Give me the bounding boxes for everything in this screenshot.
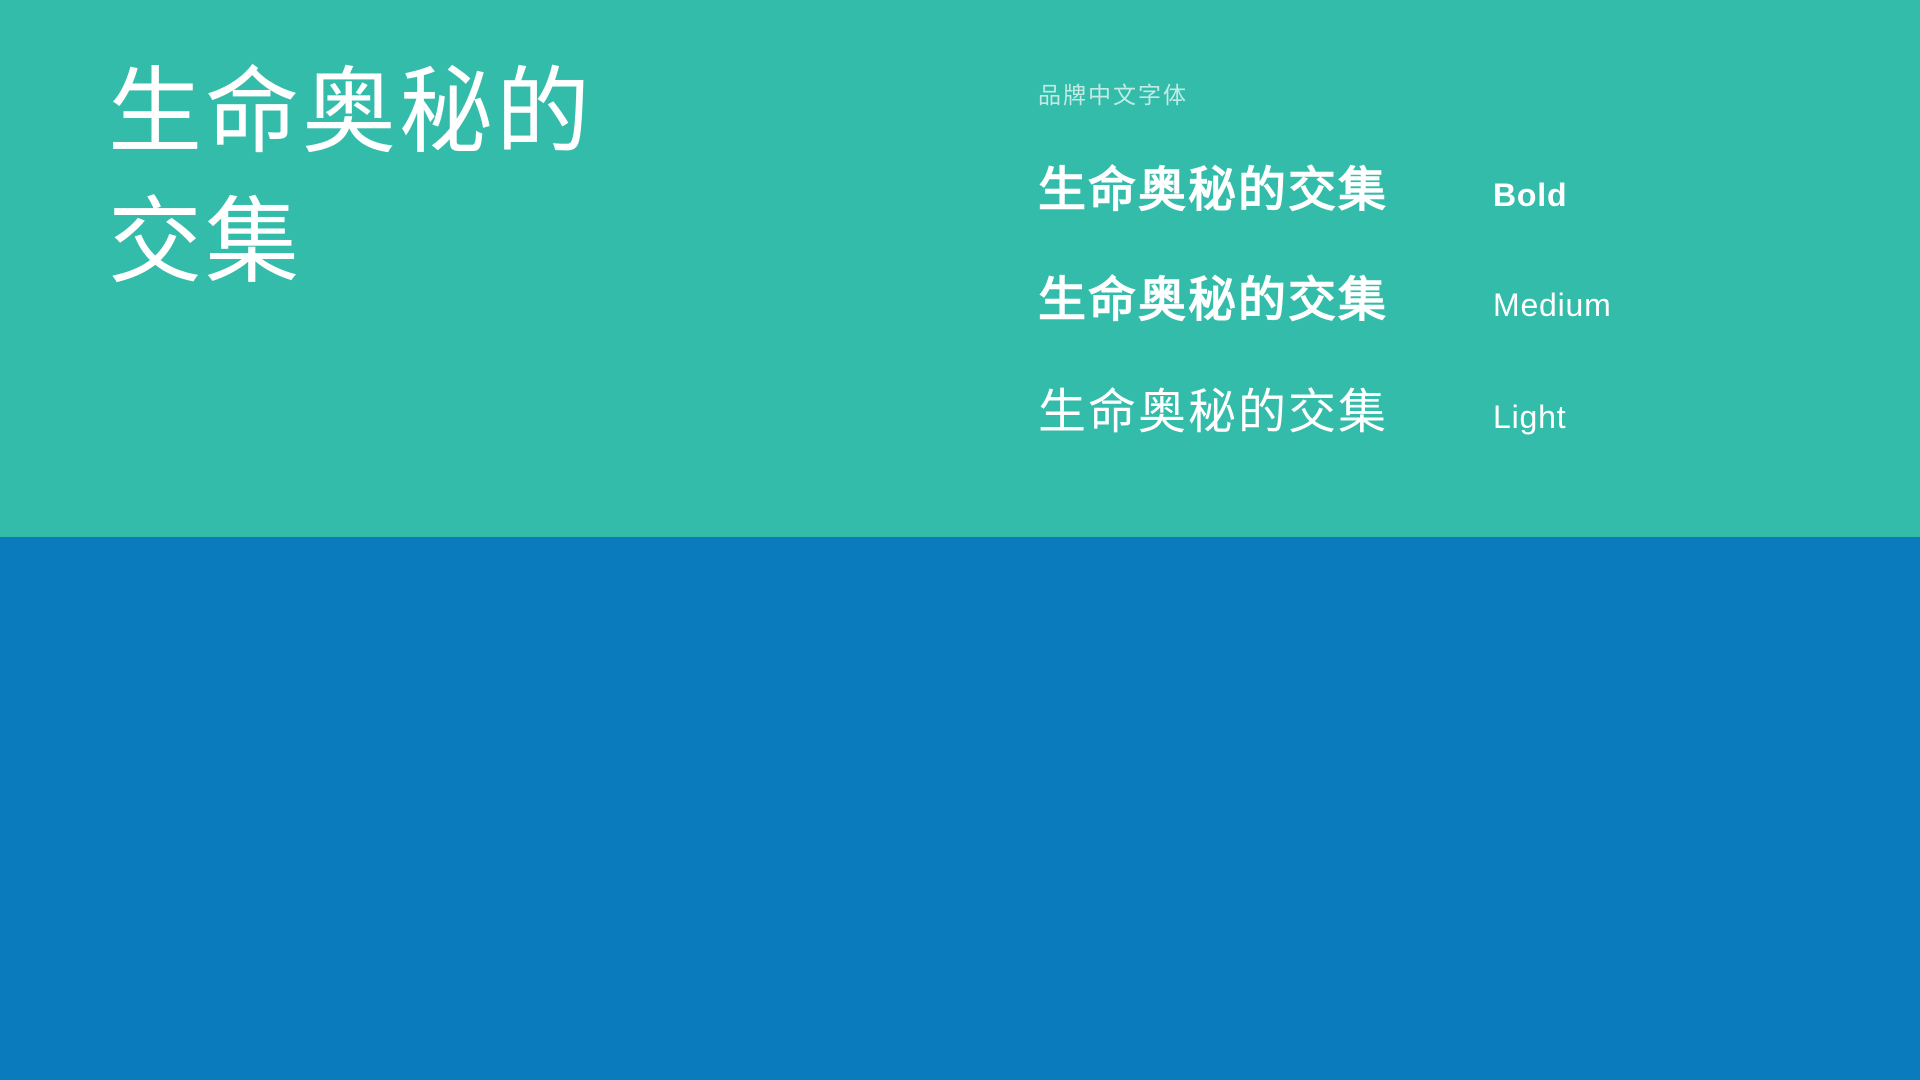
chinese-weight-label-light: Light: [1493, 399, 1566, 436]
chinese-display-headline: 生命奥秘的 交集: [108, 48, 748, 307]
chinese-sample-medium: 生命奥秘的交集: [1038, 260, 1493, 330]
typography-specimen-board: 生命奥秘的 交集 品牌中文字体 生命奥秘的交集 Bold 生命奥秘的交集 Med…: [0, 0, 1920, 1080]
english-font-panel: Brand English Font Mysteries of life Bol…: [0, 537, 1920, 1080]
chinese-weight-row-medium: 生命奥秘的交集 Medium: [1038, 260, 1612, 330]
chinese-weight-row-light: 生命奥秘的交集 Light: [1038, 372, 1566, 442]
chinese-weight-label-bold: Bold: [1493, 177, 1567, 214]
chinese-sample-bold: 生命奥秘的交集: [1038, 150, 1493, 220]
chinese-weight-label-medium: Medium: [1493, 287, 1612, 324]
chinese-sample-light: 生命奥秘的交集: [1038, 372, 1493, 442]
chinese-section-label: 品牌中文字体: [1038, 76, 1188, 110]
chinese-weight-row-bold: 生命奥秘的交集 Bold: [1038, 150, 1567, 220]
chinese-font-panel: 生命奥秘的 交集 品牌中文字体 生命奥秘的交集 Bold 生命奥秘的交集 Med…: [0, 0, 1920, 537]
